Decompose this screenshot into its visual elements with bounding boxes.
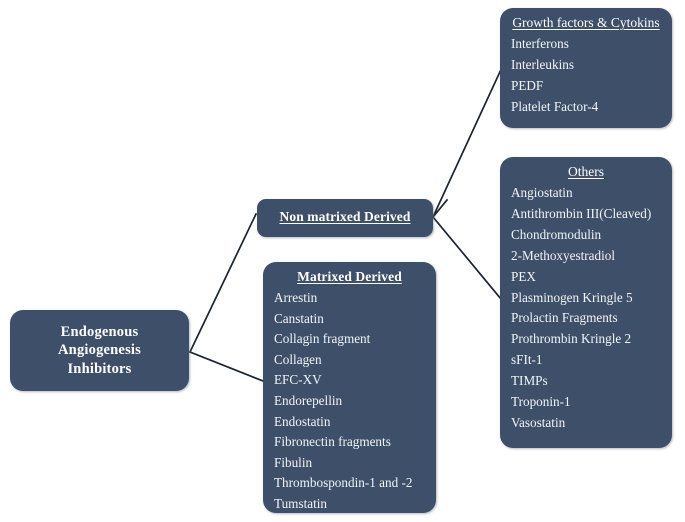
list-item: Plasminogen Kringle 5 [511, 288, 666, 309]
matrixed-derived-list: Arrestin Canstatin Collagin fragment Col… [263, 288, 436, 515]
list-item: Collagen [274, 350, 430, 371]
list-item: Prothrombin Kringle 2 [511, 329, 666, 350]
list-item: Interferons [511, 34, 666, 55]
list-item: Tumstatin [274, 494, 430, 515]
list-item: Vasostatin [511, 413, 666, 434]
list-item: Interleukins [511, 55, 666, 76]
list-item: sFIt-1 [511, 350, 666, 371]
connector-nonmatrixed-vertex-left [433, 200, 447, 217]
list-item: Fibronectin fragments [274, 432, 430, 453]
others-title: Others [500, 164, 672, 183]
node-growth-factors-and-cytokins: Growth factors & Cytokins Interferons In… [500, 8, 672, 128]
root-node-title-line-2: Angiogenesis [58, 341, 141, 360]
connector-root-to-nonmatrixed [190, 214, 256, 352]
matrixed-derived-title: Matrixed Derived [263, 269, 436, 288]
list-item: Arrestin [274, 288, 430, 309]
list-item: Collagin fragment [274, 329, 430, 350]
node-non-matrixed-derived: Non matrixed Derived [257, 199, 433, 237]
list-item: EFC-XV [274, 370, 430, 391]
list-item: Fibulin [274, 453, 430, 474]
non-matrixed-derived-title: Non matrixed Derived [274, 209, 417, 228]
connector-root-to-matrixed [190, 352, 263, 381]
node-matrixed-derived: Matrixed Derived Arrestin Canstatin Coll… [263, 262, 436, 513]
root-node-title-line-3: Inhibitors [58, 360, 141, 379]
list-item: 2-Methoxyestradiol [511, 246, 666, 267]
list-item: Endostatin [274, 412, 430, 433]
root-node-title: Endogenous Angiogenesis Inhibitors [58, 323, 141, 379]
list-item: Troponin-1 [511, 392, 666, 413]
list-item: Canstatin [274, 309, 430, 330]
node-endogenous-angiogenesis-inhibitors: Endogenous Angiogenesis Inhibitors [10, 310, 189, 391]
connector-nonmatrixed-to-growth [433, 63, 504, 217]
list-item: Antithrombin III(Cleaved) [511, 204, 666, 225]
others-list: Angiostatin Antithrombin III(Cleaved) Ch… [500, 183, 672, 434]
growth-factors-title: Growth factors & Cytokins [500, 15, 672, 34]
growth-factors-list: Interferons Interleukins PEDF Platelet F… [500, 34, 672, 118]
diagram-canvas: Endogenous Angiogenesis Inhibitors Non m… [0, 0, 685, 522]
list-item: PEX [511, 267, 666, 288]
list-item: TIMPs [511, 371, 666, 392]
list-item: Angiostatin [511, 183, 666, 204]
list-item: Chondromodulin [511, 225, 666, 246]
list-item: PEDF [511, 76, 666, 97]
root-node-title-line-1: Endogenous [58, 323, 141, 342]
list-item: Thrombospondin-1 and -2 [274, 473, 430, 494]
list-item: Prolactin Fragments [511, 308, 666, 329]
list-item: Endorepellin [274, 391, 430, 412]
connector-nonmatrixed-to-others [433, 217, 501, 299]
node-others: Others Angiostatin Antithrombin III(Clea… [500, 157, 672, 448]
list-item: Platelet Factor-4 [511, 97, 666, 118]
